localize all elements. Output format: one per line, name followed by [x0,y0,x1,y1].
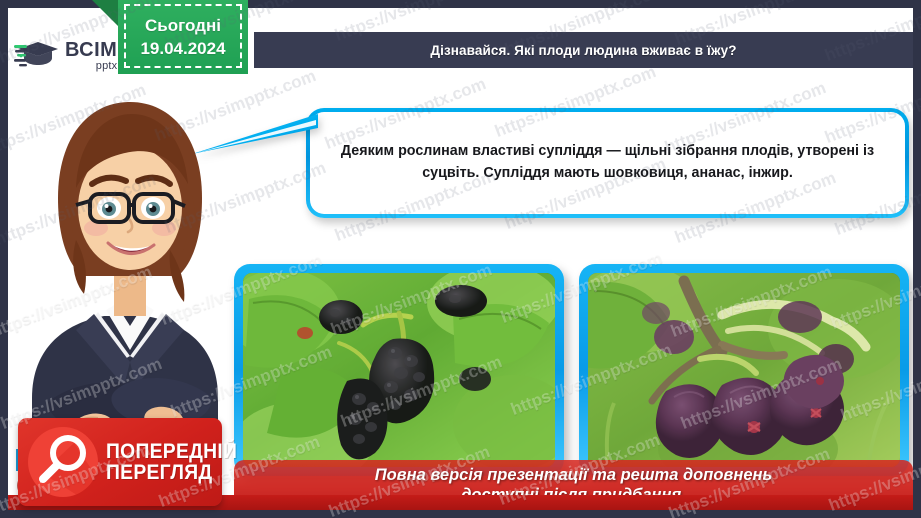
preview-badge-line2: ПЕРЕГЛЯД [106,462,237,483]
logo-sub-text: pptx [96,61,118,72]
preview-badge-line1: ПОПЕРЕДНІЙ [106,441,237,462]
purchase-notice-line1: Повна версія презентації та решта доповн… [375,465,773,485]
date-badge-corner [92,0,118,26]
mulberry-photo-frame[interactable] [234,264,564,476]
speech-bubble-text: Деяким рослинам властиві супліддя — щіль… [332,141,883,184]
fig-photo [588,273,900,467]
brand-logo: ВСІМ pptx [14,34,132,78]
magnifier-icon [28,427,98,497]
mulberry-photo [243,273,555,467]
logo-main-text: ВСІМ [65,40,117,60]
presentation-slide: Дізнавайся. Які плоди людина вживає в їж… [0,0,921,518]
graduation-cap-icon [14,39,60,73]
logo-wordmark: ВСІМ pptx [65,40,117,72]
date-badge-label: Сьогодні [145,16,221,36]
teacher-illustration [14,68,246,468]
speech-bubble: Деяким рослинам властиві супліддя — щіль… [306,108,909,218]
preview-badge-label: ПОПЕРЕДНІЙ ПЕРЕГЛЯД [106,441,249,484]
date-badge-value: 19.04.2024 [140,39,225,59]
preview-badge[interactable]: ПОПЕРЕДНІЙ ПЕРЕГЛЯД [18,418,222,506]
page-title: Дізнавайся. Які плоди людина вживає в їж… [430,43,736,58]
fig-photo-frame[interactable] [579,264,909,476]
date-badge: Сьогодні 19.04.2024 [118,0,248,74]
speech-bubble-body: Деяким рослинам властиві супліддя — щіль… [310,112,905,214]
header-bar: Дізнавайся. Які плоди людина вживає в їж… [254,32,913,68]
